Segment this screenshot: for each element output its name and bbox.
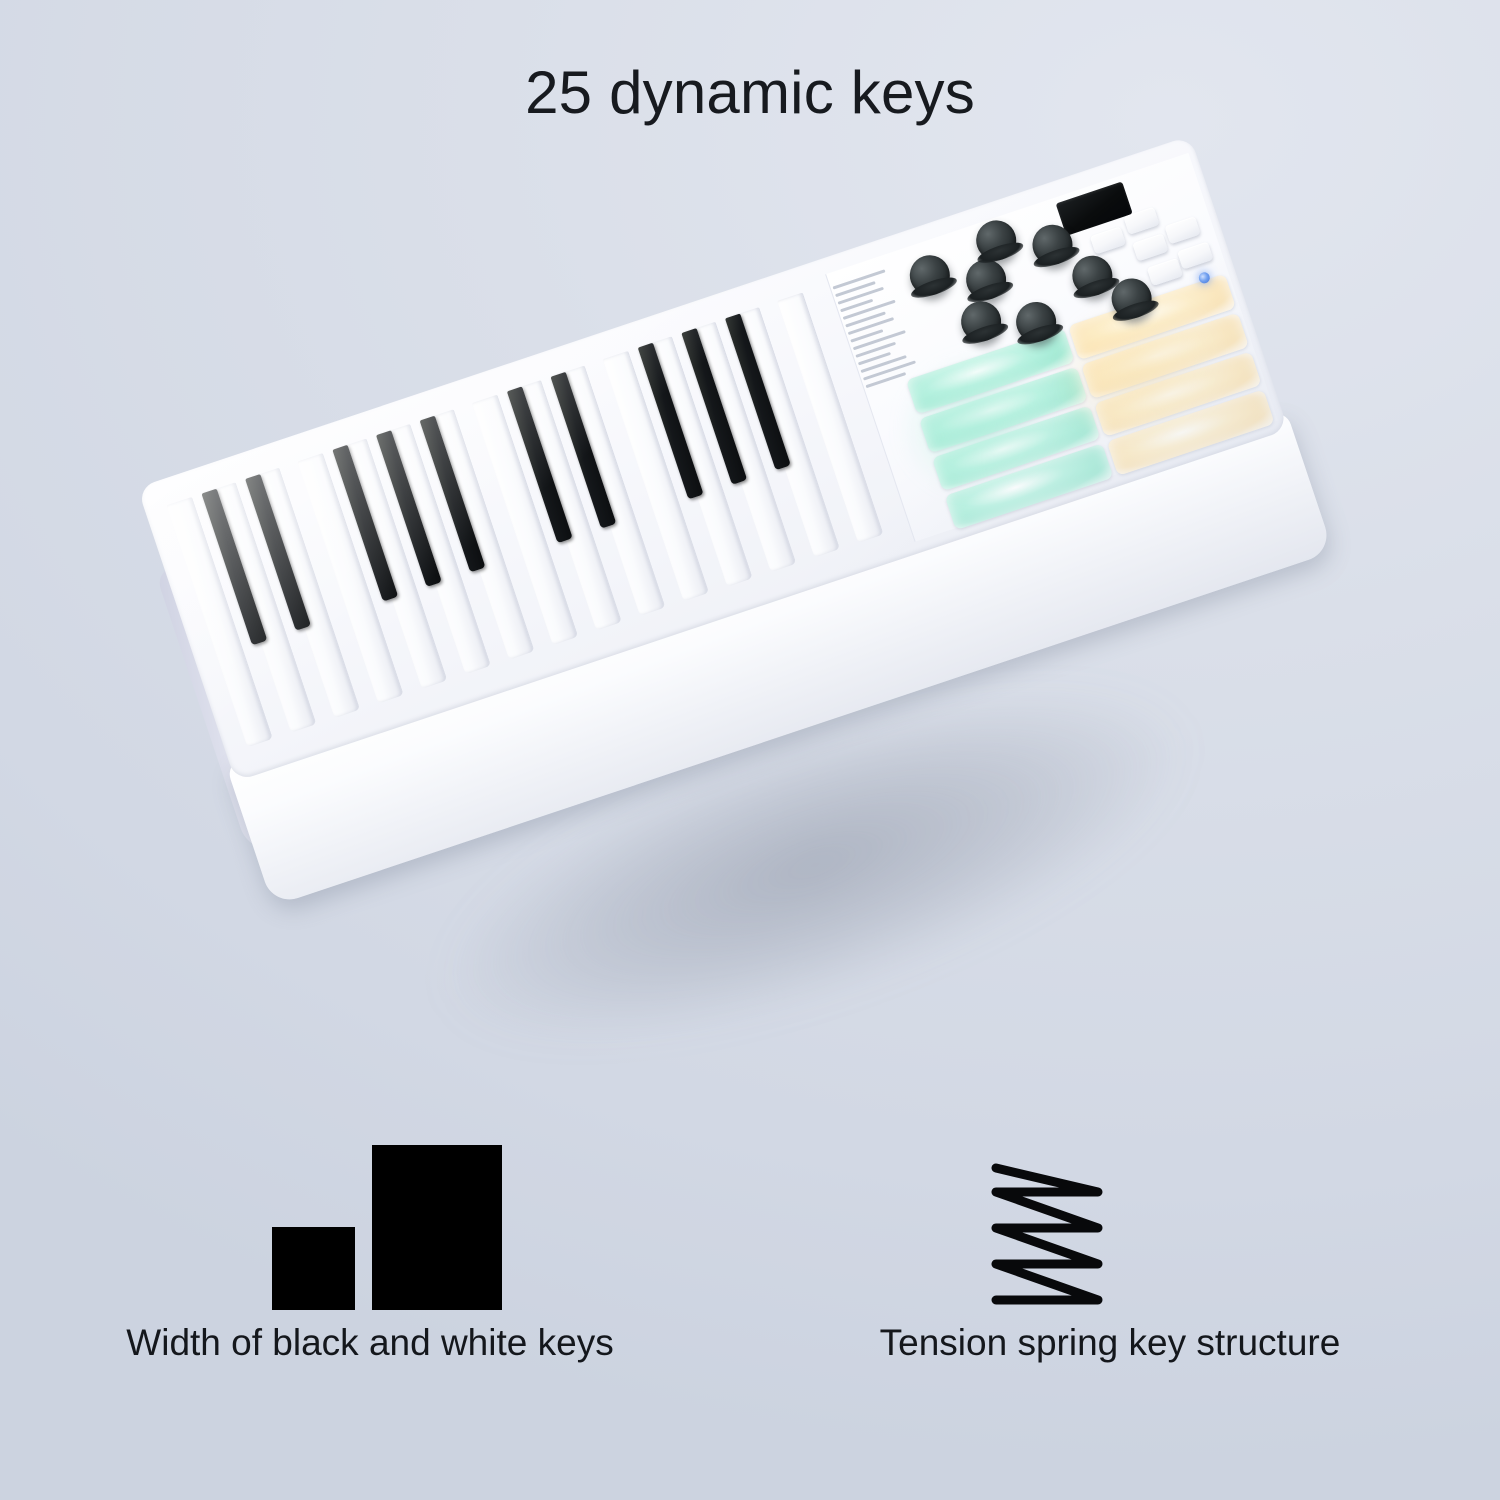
control-knob-5[interactable] [956,296,1007,347]
feature-key-width: Width of black and white keys [50,1100,690,1430]
spring-figure [790,1100,1430,1310]
page-title: 25 dynamic keys [0,58,1500,127]
feature-row: Width of black and white keys Tension sp… [0,1100,1500,1430]
control-knob-3[interactable] [971,215,1022,266]
control-knob-7[interactable] [1067,250,1118,301]
product-photo [100,230,1400,1030]
feature-caption-spring: Tension spring key structure [790,1322,1430,1364]
function-button-1[interactable] [1090,226,1126,254]
product-feature-page: 25 dynamic keys [0,0,1500,1500]
key-width-figure [50,1100,690,1310]
function-button-3[interactable] [1132,233,1168,261]
function-button-5[interactable] [1147,258,1183,286]
coil-spring-icon [982,1160,1112,1310]
feature-spring-structure: Tension spring key structure [790,1100,1430,1430]
black-key-width-bar-icon [272,1227,355,1310]
function-button-4[interactable] [1164,216,1200,244]
display-screen [1056,181,1133,235]
control-knob-1[interactable] [905,250,956,301]
feature-caption-key-width: Width of black and white keys [50,1322,690,1364]
function-button-6[interactable] [1177,241,1213,269]
white-key-width-bar-icon [372,1145,502,1310]
